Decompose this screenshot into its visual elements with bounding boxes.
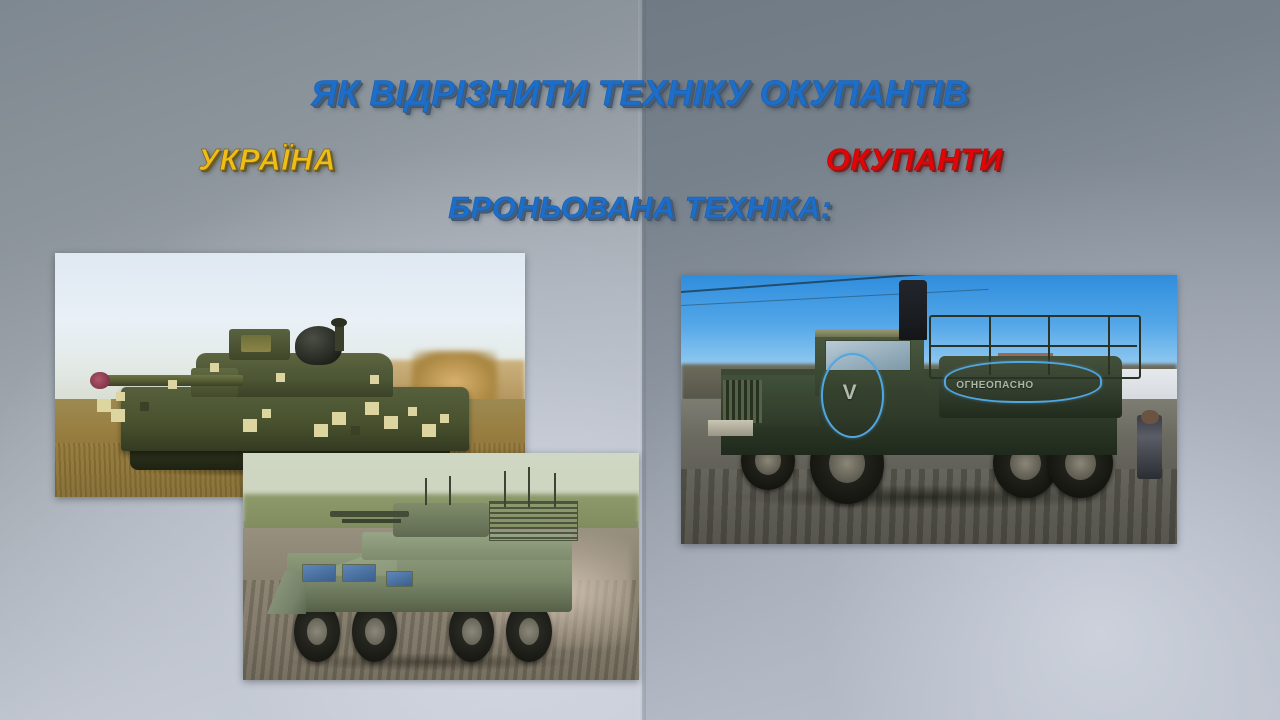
tank-camo-patch bbox=[116, 392, 125, 401]
tank-camo-patch bbox=[111, 409, 125, 422]
heading-ukraine: УКРАЇНА bbox=[198, 142, 336, 178]
person-standing-on-truck bbox=[899, 280, 926, 339]
tank-camo-patch bbox=[440, 414, 449, 423]
tank-camo-patch bbox=[140, 402, 149, 411]
apc-autocannon bbox=[330, 511, 409, 517]
tank-camo-patch bbox=[262, 409, 271, 418]
tank-muzzle-cover bbox=[90, 372, 110, 390]
tank-camo-patch bbox=[243, 419, 257, 432]
tank-camo-patch bbox=[210, 363, 219, 372]
apc-machine-gun bbox=[342, 519, 401, 523]
apc-hull bbox=[287, 553, 572, 612]
apc-scene bbox=[243, 453, 639, 680]
tank-camo-patch bbox=[351, 426, 360, 435]
tank-camo-patch bbox=[276, 373, 285, 382]
apc-vision-block bbox=[386, 571, 414, 587]
apc-antenna bbox=[449, 476, 451, 506]
tank-camo-patch bbox=[365, 402, 379, 415]
truck-bumper bbox=[708, 420, 753, 436]
tank-camo-patch bbox=[168, 380, 177, 389]
occupant-fuel-truck-photo: V ОГНЕОПАСНО bbox=[681, 275, 1177, 544]
rack-crossbar bbox=[929, 345, 1137, 347]
annotation-circle-v-marking bbox=[821, 353, 885, 438]
tank-camo-patch bbox=[370, 375, 379, 384]
ukrainian-apc-photo bbox=[243, 453, 639, 680]
apc-vision-block bbox=[302, 564, 336, 582]
person-beside-truck bbox=[1137, 415, 1162, 480]
apc-slat-armor bbox=[489, 501, 578, 542]
tank-camo-patch bbox=[422, 424, 436, 437]
rack-upright bbox=[1108, 315, 1110, 374]
tank-camo-patch bbox=[97, 399, 111, 412]
tank-camo-patch bbox=[314, 424, 328, 437]
apc-vision-block bbox=[342, 564, 376, 582]
presentation-slide: ЯК ВІДРІЗНИТИ ТЕХНІКУ ОКУПАНТІВ УКРАЇНА … bbox=[0, 0, 1280, 720]
tank-camo-patch bbox=[384, 416, 398, 429]
annotation-circle-flammable bbox=[944, 361, 1102, 403]
apc-turret bbox=[393, 503, 488, 537]
apc-antenna bbox=[504, 471, 506, 507]
truck-grille bbox=[723, 380, 763, 423]
apc-antenna bbox=[554, 473, 556, 507]
apc-antenna bbox=[425, 478, 427, 505]
apc-antenna bbox=[528, 467, 530, 508]
tank-camo-patch bbox=[408, 407, 417, 416]
tank-mast bbox=[335, 324, 344, 351]
slide-subtitle: БРОНЬОВАНА ТЕХНІКА: bbox=[0, 190, 1280, 226]
truck-scene: V ОГНЕОПАСНО bbox=[681, 275, 1177, 544]
heading-occupants: ОКУПАНТИ bbox=[826, 142, 1002, 178]
slide-title: ЯК ВІДРІЗНИТИ ТЕХНІКУ ОКУПАНТІВ bbox=[0, 74, 1280, 114]
tank-camo-patch bbox=[332, 412, 346, 425]
tank-sight-block bbox=[241, 335, 272, 352]
